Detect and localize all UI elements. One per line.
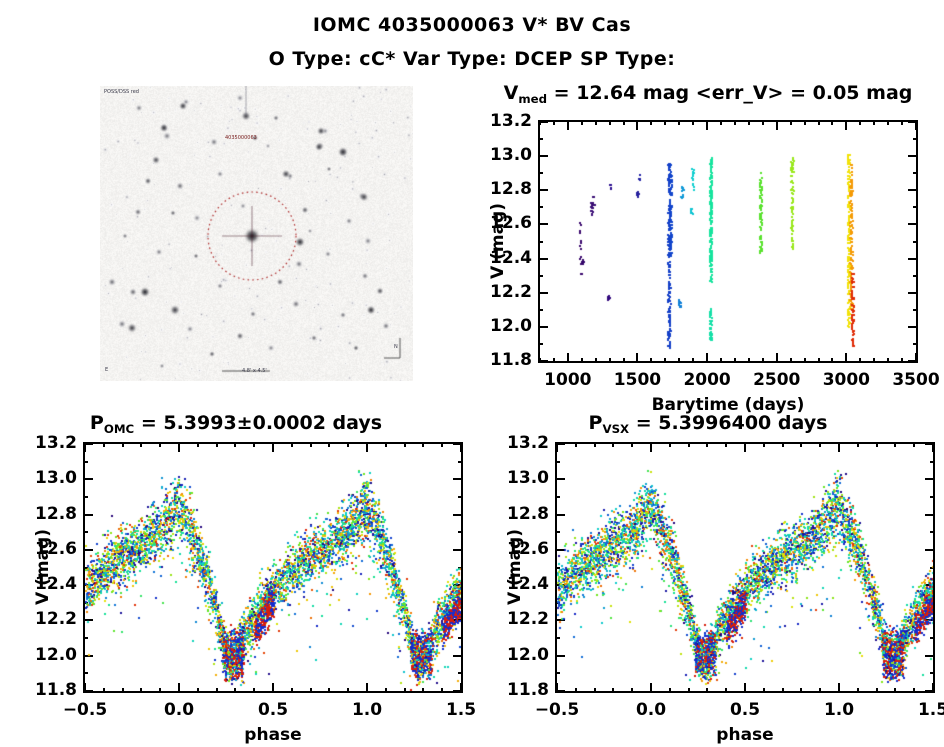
phase-vsx-data-canvas [557,444,933,691]
y-axis-label: V (mag) [505,467,525,667]
y-tick-label: 11.8 [493,680,549,700]
x-tick-label: 0.0 [606,700,696,720]
x-tick-label: 1.0 [794,700,884,720]
y-tick-label: 13.2 [493,433,549,453]
x-tick-label: 0.5 [700,700,790,720]
x-tick-label: −0.5 [512,700,602,720]
x-tick-label: 1.5 [888,700,944,720]
phase-vsx-panel: 11.812.012.212.412.612.813.013.2−0.50.00… [0,0,944,747]
x-axis-label: phase [625,725,865,745]
